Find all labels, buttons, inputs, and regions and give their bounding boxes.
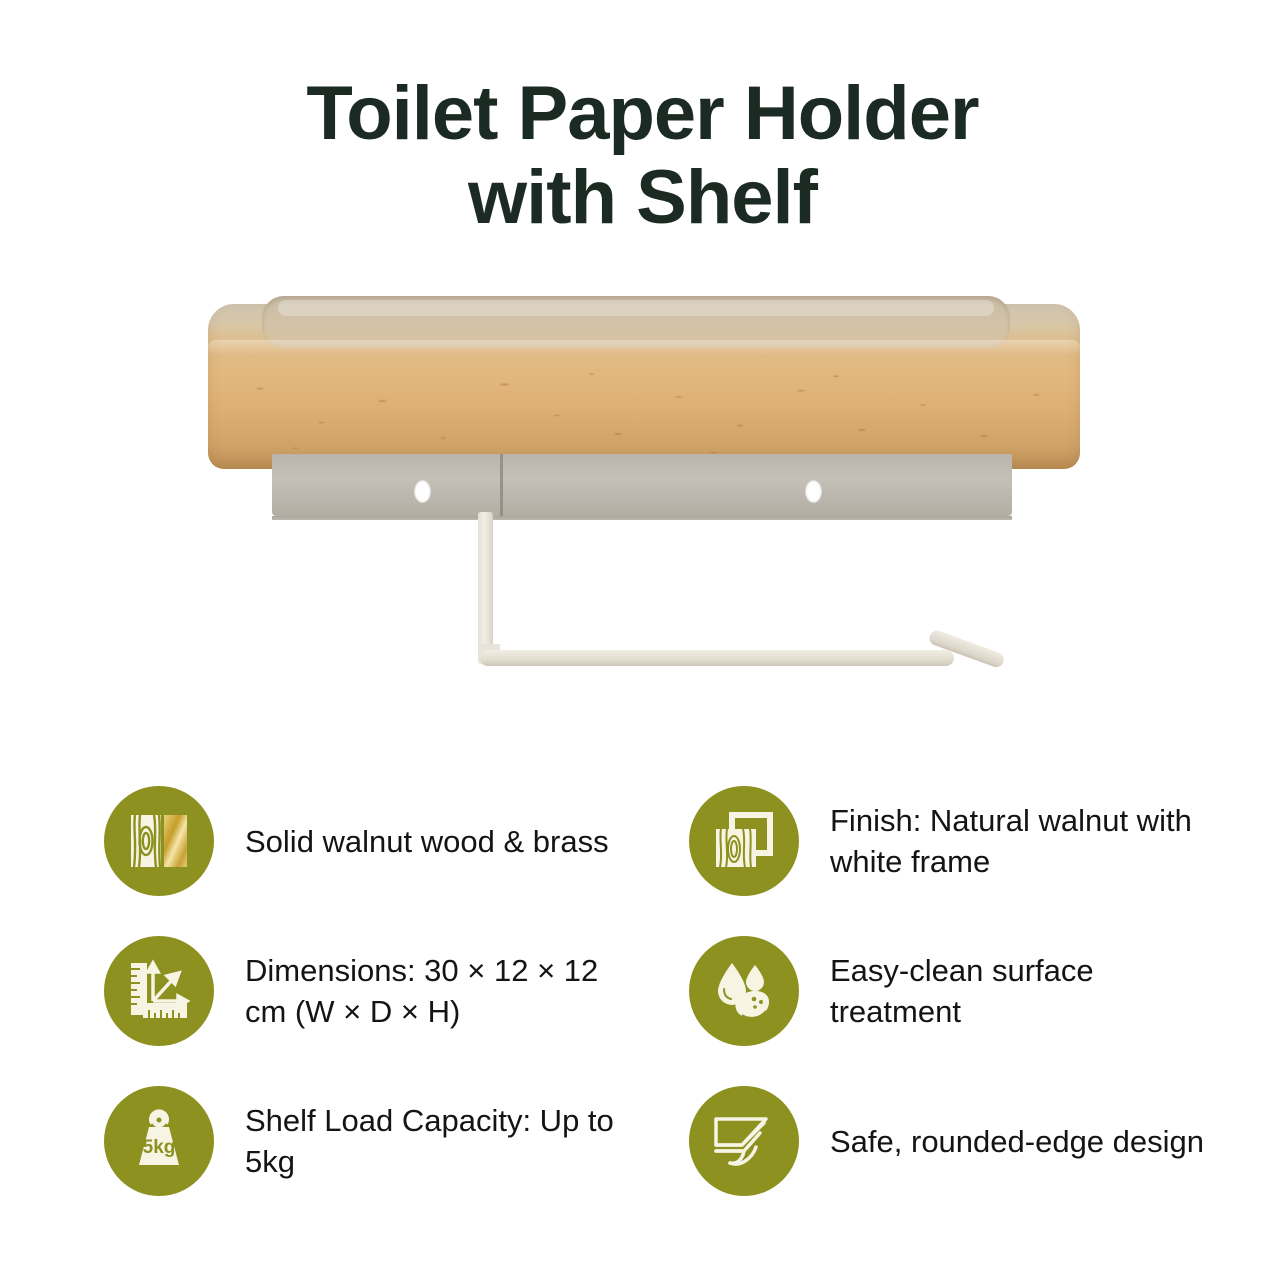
feature-item-dimensions: Dimensions: 30 × 12 × 12 cm (W × D × H) — [104, 928, 689, 1054]
holder-bar-horizontal-arm — [480, 650, 954, 666]
feature-label-dimensions: Dimensions: 30 × 12 × 12 cm (W × D × H) — [245, 950, 630, 1032]
wood-grain-brass-icon — [104, 786, 214, 896]
feature-label-load-capacity: Shelf Load Capacity: Up to 5kg — [245, 1100, 630, 1182]
feature-item-easy-clean: Easy-clean surface treatment — [689, 928, 1274, 1054]
ruler-dimensions-icon — [104, 936, 214, 1046]
feature-list: Solid walnut wood & brass Finis — [0, 778, 1285, 1204]
feature-item-material: Solid walnut wood & brass — [104, 778, 689, 904]
paper-holder-bar — [478, 512, 1018, 688]
bracket-seam — [500, 454, 503, 516]
feature-label-rounded-edge: Safe, rounded-edge design — [830, 1121, 1204, 1162]
rounded-edge-icon — [689, 1086, 799, 1196]
feature-label-easy-clean: Easy-clean surface treatment — [830, 950, 1215, 1032]
feature-item-rounded-edge: Safe, rounded-edge design — [689, 1078, 1274, 1204]
screw-hole-right — [805, 480, 822, 503]
product-image-stage — [0, 288, 1285, 728]
droplet-sponge-icon — [689, 936, 799, 1046]
page-title-line-2: with Shelf — [0, 156, 1285, 240]
holder-bar-vertical-arm — [478, 512, 493, 664]
feature-item-load-capacity: 5kg Shelf Load Capacity: Up to 5kg — [104, 1078, 689, 1204]
feature-label-finish: Finish: Natural walnut with white frame — [830, 800, 1215, 882]
feature-label-material: Solid walnut wood & brass — [245, 821, 609, 862]
product-photo-toilet-paper-holder — [200, 288, 1090, 718]
wall-mount-bracket — [272, 454, 1012, 516]
finish-frame-icon — [689, 786, 799, 896]
shelf-front-lip — [208, 340, 1080, 356]
shelf-tray-highlight — [278, 300, 994, 316]
feature-item-finish: Finish: Natural walnut with white frame — [689, 778, 1274, 904]
page-title-line-1: Toilet Paper Holder — [0, 72, 1285, 156]
weight-badge-label: 5kg — [143, 1137, 176, 1158]
screw-hole-left — [414, 480, 431, 503]
page-title: Toilet Paper Holder with Shelf — [0, 72, 1285, 240]
weight-5kg-icon: 5kg — [104, 1086, 214, 1196]
